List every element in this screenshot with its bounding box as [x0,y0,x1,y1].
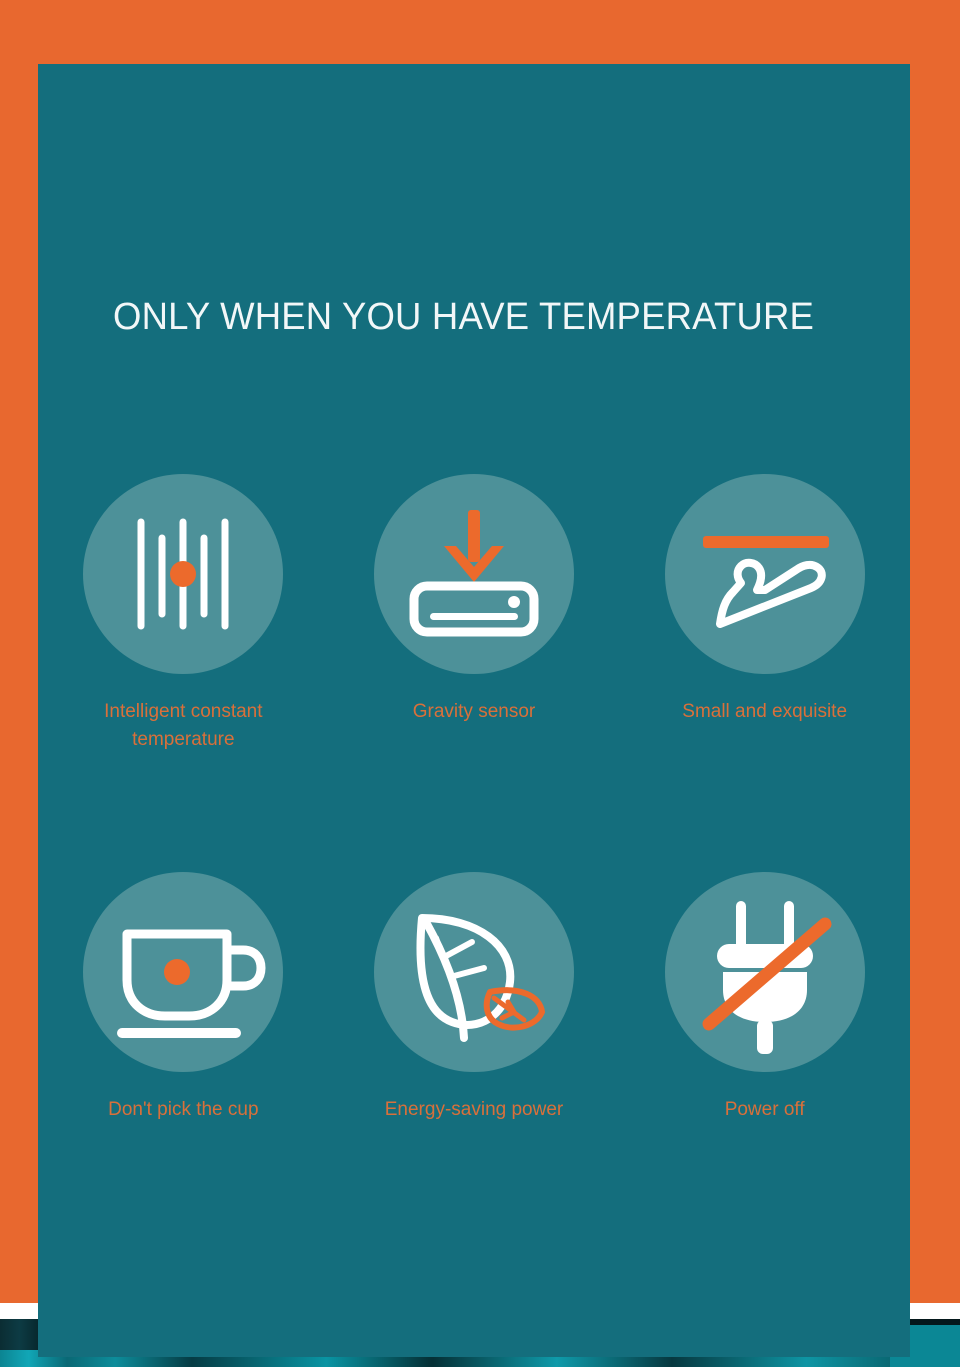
hand-holding-icon [665,474,865,674]
feature-grid: Intelligent constant temperature [38,474,910,1124]
icon-circle [665,474,865,674]
feature-power-off[interactable]: Power off [619,872,910,1124]
icon-circle [83,872,283,1072]
feature-label: Power off [725,1096,805,1124]
feature-label: Small and exquisite [682,698,847,726]
temperature-bars-icon [83,474,283,674]
feature-label: Energy-saving power [385,1096,563,1124]
feature-intelligent-constant-temperature[interactable]: Intelligent constant temperature [38,474,329,754]
feature-gravity-sensor[interactable]: Gravity sensor [329,474,620,754]
icon-circle [374,872,574,1072]
icon-circle [374,474,574,674]
icon-circle [83,474,283,674]
gravity-sensor-icon [374,474,574,674]
feature-label: Gravity sensor [413,698,535,726]
plug-off-icon [665,872,865,1072]
feature-energy-saving-power[interactable]: Energy-saving power [329,872,620,1124]
leaf-icon [374,872,574,1072]
feature-label: Intelligent constant temperature [68,698,298,754]
feature-dont-pick-the-cup[interactable]: Don't pick the cup [38,872,329,1124]
feature-label: Don't pick the cup [108,1096,258,1124]
cup-saucer-icon [83,872,283,1072]
icon-circle [665,872,865,1072]
feature-small-and-exquisite[interactable]: Small and exquisite [619,474,910,754]
page-title: ONLY WHEN YOU HAVE TEMPERATURE [113,296,823,339]
feature-card: ONLY WHEN YOU HAVE TEMPERATURE Intellige… [38,64,910,1357]
